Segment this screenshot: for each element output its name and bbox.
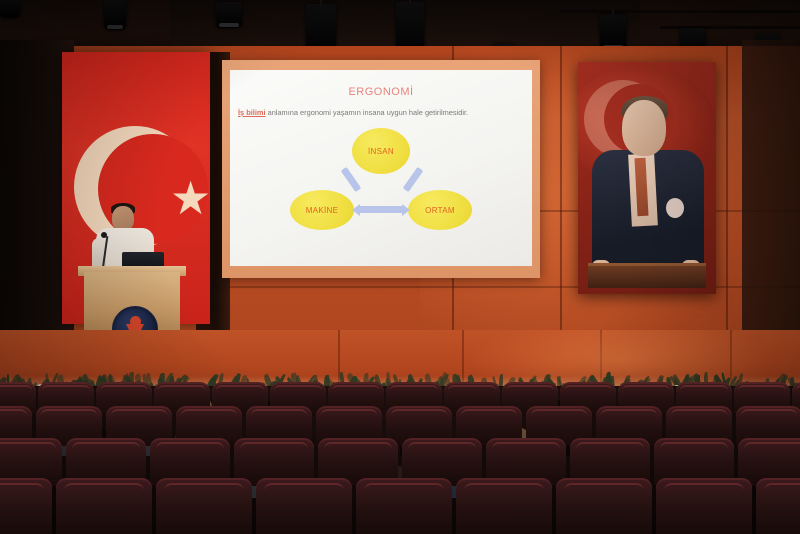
slide-body-emphasis: İş bilimi: [238, 108, 266, 117]
slide-body-rest: anlamına ergonomi yaşamın insana uygun h…: [266, 108, 469, 117]
portrait-pocket-square: [666, 198, 684, 218]
diagram-arrow-makine-ortam: [358, 206, 404, 213]
arrow-head-right: [402, 204, 410, 216]
audience-chair: [0, 478, 52, 534]
stage-light: [600, 14, 626, 50]
stage-light: [104, 0, 126, 30]
microphone-icon: [101, 232, 107, 238]
slide-title: ERGONOMİ: [230, 86, 532, 98]
audience-seating: [0, 386, 800, 534]
stage-light: [216, 2, 242, 28]
audience-chair: [656, 478, 752, 534]
wall-seam: [726, 46, 728, 346]
diagram-node-insan: İNSAN: [352, 128, 410, 174]
side-curtain-right: [742, 40, 800, 380]
audience-chair: [556, 478, 652, 534]
ataturk-portrait: [578, 62, 716, 294]
auditorium-photo: ERGONOMİ İş bilimi anlamına ergonomi yaş…: [0, 0, 800, 534]
audience-chair: [56, 478, 152, 534]
audience-chair: [456, 478, 552, 534]
audience-chair: [356, 478, 452, 534]
diagram-arrow-insan-makine: [341, 167, 362, 192]
projection-screen-frame: ERGONOMİ İş bilimi anlamına ergonomi yaş…: [222, 60, 540, 278]
audience-chair: [756, 478, 800, 534]
projection-screen: ERGONOMİ İş bilimi anlamına ergonomi yaş…: [230, 70, 532, 266]
slide-body-text: İş bilimi anlamına ergonomi yaşamın insa…: [238, 108, 526, 117]
diagram-node-ortam: ORTAM: [408, 190, 472, 230]
lighting-truss: [560, 10, 800, 13]
diagram-arrow-insan-ortam: [403, 167, 424, 192]
arrow-head-left: [352, 204, 360, 216]
audience-chair: [256, 478, 352, 534]
portrait-face: [622, 100, 666, 156]
stage-light: [0, 0, 20, 18]
wall-seam: [560, 46, 562, 346]
audience-chair: [156, 478, 252, 534]
diagram-node-makine: MAKİNE: [290, 190, 354, 230]
portrait-lectern: [588, 263, 706, 288]
